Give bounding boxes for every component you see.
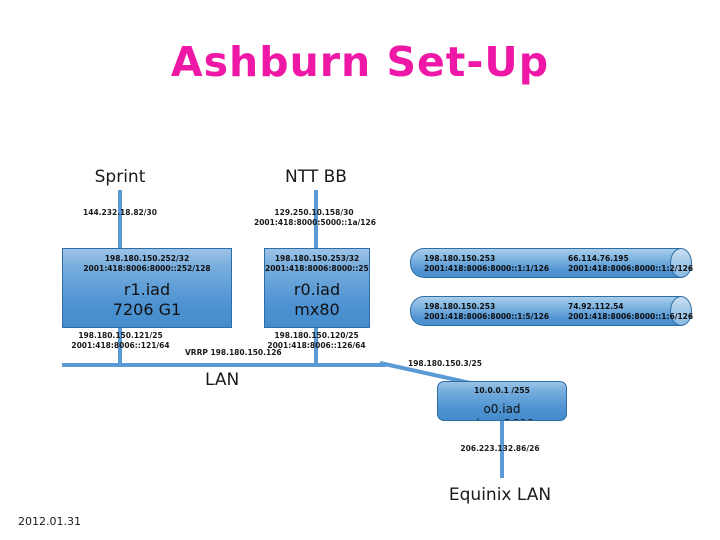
- peering-1-remote: 66.114.76.195 2001:418:8006:8000::1:2/12…: [568, 254, 693, 274]
- peering-2-remote-v6: 2001:418:8006:8000::1:6/126: [568, 312, 693, 322]
- peering-2-remote-v4: 74.92.112.54: [568, 302, 693, 312]
- peering-2-remote: 74.92.112.54 2001:418:8006:8000::1:6/126: [568, 302, 693, 322]
- peering-callout-2[interactable]: 198.180.150.253 2001:418:8006:8000::1:5/…: [410, 296, 692, 326]
- endpoint-label-ntt: NTT BB: [258, 167, 374, 187]
- router-o0-addr-v4: 10.0.0.1 /255: [438, 386, 566, 396]
- peering-2-local: 198.180.150.253 2001:418:8006:8000::1:5/…: [424, 302, 549, 322]
- router-r1-addr-v4: 198.180.150.252/32: [63, 254, 231, 264]
- link-label-o0-downlink: 206.223.132.86/26: [440, 444, 560, 454]
- router-o0-name: o0.iad: [438, 402, 566, 417]
- page-title: Ashburn Set-Up: [0, 38, 720, 86]
- peering-1-local-v4: 198.180.150.253: [424, 254, 549, 264]
- link-label-ntt-uplink-v6: 2001:418:8000:5000::1a/126: [254, 218, 374, 228]
- date-stamp: 2012.01.31: [18, 515, 81, 528]
- endpoint-label-sprint: Sprint: [62, 167, 178, 187]
- peering-callout-1[interactable]: 198.180.150.253 2001:418:8006:8000::1:1/…: [410, 248, 692, 278]
- router-r0-addr-v6: 2001:418:8006:8000::253/128: [265, 264, 369, 274]
- router-r1-model: 7206 G1: [63, 300, 231, 320]
- peering-1-local-v6: 2001:418:8006:8000::1:1/126: [424, 264, 549, 274]
- peering-1-remote-v4: 66.114.76.195: [568, 254, 693, 264]
- lan-bus-line: [62, 363, 386, 367]
- router-node-r1-iad[interactable]: 198.180.150.252/32 2001:418:8006:8000::2…: [62, 248, 232, 328]
- link-label-r1-lan-v4: 198.180.150.121/25: [58, 331, 183, 341]
- router-r1-addr-v6: 2001:418:8006:8000::252/128: [63, 264, 231, 274]
- link-label-r1-lan-v6: 2001:418:8006::121/64: [58, 341, 183, 351]
- router-r1-name: r1.iad: [63, 280, 231, 300]
- link-label-ntt-uplink-v4: 129.250.10.158/30: [254, 208, 374, 218]
- peering-2-local-v4: 198.180.150.253: [424, 302, 549, 312]
- router-r0-addr-v4: 198.180.150.253/32: [265, 254, 369, 264]
- link-label-sprint-uplink: 144.232.18.82/30: [60, 208, 180, 218]
- endpoint-label-lan: LAN: [205, 370, 239, 390]
- router-r0-name: r0.iad: [265, 280, 369, 300]
- peering-1-remote-v6: 2001:418:8006:8000::1:2/126: [568, 264, 693, 274]
- peering-2-local-v6: 2001:418:8006:8000::1:5/126: [424, 312, 549, 322]
- connector-sprint-to-r1: [118, 190, 122, 250]
- link-label-r0-lan-v4: 198.180.150.120/25: [254, 331, 379, 341]
- link-label-vrrp: VRRP 198.180.150.126: [185, 348, 282, 358]
- router-r0-model: mx80: [265, 300, 369, 320]
- router-node-r0-iad[interactable]: 198.180.150.253/32 2001:418:8006:8000::2…: [264, 248, 370, 328]
- peering-1-local: 198.180.150.253 2001:418:8006:8000::1:1/…: [424, 254, 549, 274]
- router-node-o0-iad[interactable]: 10.0.0.1 /255 o0.iad cisco 2600: [437, 381, 567, 421]
- link-label-o0-uplink: 198.180.150.3/25: [408, 359, 482, 369]
- endpoint-label-equinix: Equinix LAN: [440, 485, 560, 505]
